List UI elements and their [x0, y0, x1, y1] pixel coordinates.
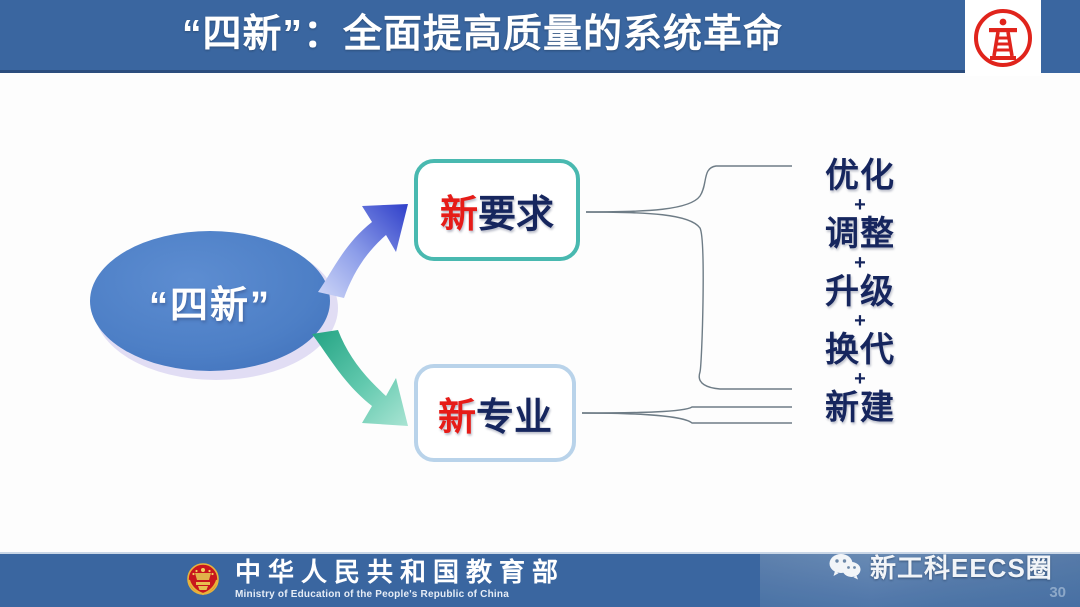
ministry-name-cn: 中华人民共和国教育部 [235, 560, 565, 586]
concept-box-new-major[interactable]: 新专业 [414, 364, 576, 462]
wechat-account-name: 新工科EECS圈 [870, 548, 1053, 585]
concept-box-new-requirement[interactable]: 新要求 [414, 159, 580, 261]
diagram-canvas: “四新” 新要求 新专业 优化 + 调整 + 升级 + 换代 + 新建 [0, 76, 1080, 552]
tianjin-university-logo-icon [965, 0, 1041, 76]
wechat-watermark: 新工科EECS圈 [828, 548, 1053, 585]
outcome-separator-0: + [800, 194, 920, 216]
page-number: 30 [1049, 584, 1066, 601]
ministry-text-block: 中华人民共和国教育部 Ministry of Education of the … [235, 560, 565, 600]
university-logo-plate [965, 0, 1041, 76]
new-major-prefix: 新 [438, 386, 476, 441]
slide-root: “四新”：全面提高质量的系统革命 [0, 0, 1080, 607]
header-right-fill [1041, 0, 1080, 73]
bracket-requirement-lower [586, 212, 792, 389]
outcome-item-1: 调整 [800, 216, 920, 252]
outcome-item-4: 新建 [800, 390, 920, 426]
new-requirement-suffix: 要求 [478, 183, 554, 238]
wechat-icon [828, 552, 862, 582]
outcome-item-3: 换代 [800, 332, 920, 368]
outcome-separator-2: + [800, 310, 920, 332]
page-title: “四新”：全面提高质量的系统革命 [0, 0, 965, 70]
arrow-to-new-requirement-shape [318, 204, 408, 298]
outcome-item-2: 升级 [800, 274, 920, 310]
new-requirement-prefix: 新 [440, 183, 478, 238]
ministry-of-education-branding: 中华人民共和国教育部 Ministry of Education of the … [183, 558, 565, 602]
china-national-emblem-icon [183, 558, 223, 602]
bracket-major-lower [582, 413, 792, 423]
ministry-name-en: Ministry of Education of the People's Re… [235, 590, 565, 600]
center-node-label: “四新” [90, 231, 330, 371]
header-bar: “四新”：全面提高质量的系统革命 [0, 0, 1080, 73]
bracket-major [582, 407, 792, 413]
bracket-requirement [586, 166, 792, 212]
outcome-separator-3: + [800, 368, 920, 390]
outcome-column: 优化 + 调整 + 升级 + 换代 + 新建 [800, 158, 920, 426]
outcome-separator-1: + [800, 252, 920, 274]
outcome-item-0: 优化 [800, 158, 920, 194]
center-node[interactable]: “四新” [90, 231, 330, 371]
new-major-suffix: 专业 [476, 386, 552, 441]
